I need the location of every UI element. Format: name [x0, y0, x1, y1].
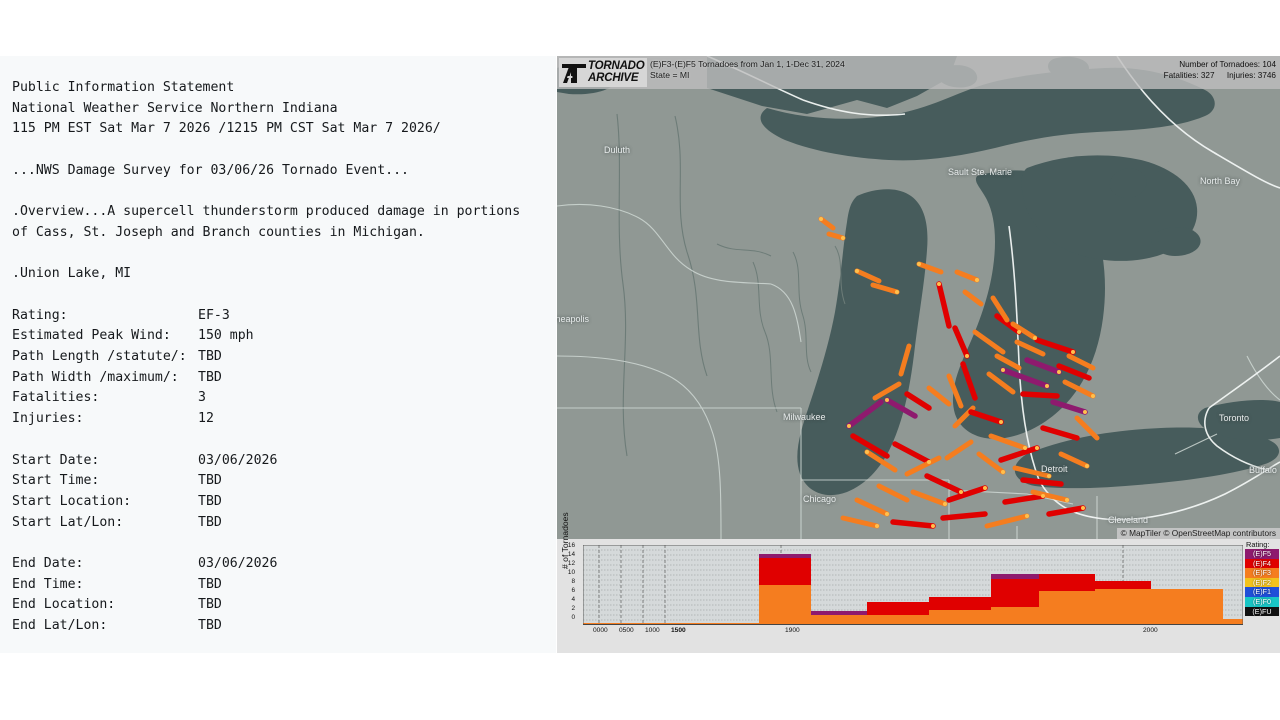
chart-x-tick: 1500 [671, 627, 686, 634]
legend-title: Rating: [1245, 540, 1279, 549]
field-label: Estimated Peak Wind: [12, 326, 198, 347]
field-value: 12 [198, 411, 214, 426]
map-query-title: (E)F3-(E)F5 Tornadoes from Jan 1, 1-Dec … [650, 59, 845, 82]
tornado-map[interactable]: Duluth Minneapolis Sault Ste. Marie Nort… [557, 56, 1280, 539]
bar-f3 [1039, 591, 1095, 625]
chart-y-tick: 6 [557, 588, 575, 594]
bar-f3 [929, 610, 991, 625]
field-label: Start Time: [12, 471, 198, 492]
spacer [0, 430, 556, 451]
tornado-archive-logo[interactable]: TORNADO ARCHIVE [559, 58, 647, 87]
spacer [0, 285, 556, 306]
bar-f4 [1039, 574, 1095, 591]
legend-item-ef0[interactable]: (E)F0 [1245, 597, 1279, 607]
tornado-track-f4 [1023, 394, 1057, 396]
field-row: Start Date:03/06/2026 [0, 451, 556, 472]
public-information-statement-panel: Public Information Statement National We… [0, 56, 556, 653]
field-row: End Location:TBD [0, 595, 556, 616]
field-row: Start Time:TBD [0, 471, 556, 492]
field-value: TBD [198, 473, 222, 488]
field-row: Fatalities:3 [0, 388, 556, 409]
field-row: End Date:03/06/2026 [0, 554, 556, 575]
bar-f4 [929, 597, 991, 610]
chart-x-tick: 1000 [645, 627, 660, 634]
stat-injuries: Injuries: 3746 [1227, 71, 1276, 80]
statement-header-line: Public Information Statement [0, 78, 556, 99]
field-value: TBD [198, 577, 222, 592]
chart-x-tick: 0000 [593, 627, 608, 634]
field-row: Injuries:12 [0, 409, 556, 430]
field-value: 3 [198, 390, 206, 405]
field-row: Start Lat/Lon:TBD [0, 513, 556, 534]
field-label: Start Lat/Lon: [12, 513, 198, 534]
field-value: 03/06/2026 [198, 556, 277, 571]
chart-y-tick: 16 [557, 543, 575, 549]
stat-fatalities: Fatalities: 327 [1164, 71, 1215, 80]
statement-header-line: 115 PM EST Sat Mar 7 2026 /1215 PM CST S… [0, 119, 556, 140]
field-value: TBD [198, 597, 222, 612]
field-value: TBD [198, 370, 222, 385]
legend-item-ef1[interactable]: (E)F1 [1245, 587, 1279, 597]
chart-x-tick: 1900 [785, 627, 800, 634]
statement-header-line: National Weather Service Northern Indian… [0, 99, 556, 120]
bar-f3 [1151, 589, 1223, 625]
legend-item-ef4[interactable]: (E)F4 [1245, 559, 1279, 569]
overview-line: .Overview...A supercell thunderstorm pro… [0, 202, 556, 223]
summary-stats: Number of Tornadoes: 104 Fatalities: 327… [1154, 59, 1276, 82]
field-row: Estimated Peak Wind:150 mph [0, 326, 556, 347]
chart-y-tick: 4 [557, 597, 575, 603]
event-location-title: .Union Lake, MI [0, 264, 556, 285]
field-label: Path Length /statute/: [12, 347, 198, 368]
app-header-bar: TORNADO ARCHIVE (E)F3-(E)F5 Tornadoes fr… [557, 56, 1280, 89]
field-row: Path Width /maximum/:TBD [0, 368, 556, 389]
field-label: Fatalities: [12, 388, 198, 409]
chart-y-tick: 12 [557, 561, 575, 567]
spacer [0, 140, 556, 161]
map-canvas [557, 56, 1280, 539]
field-row: Rating:EF-3 [0, 306, 556, 327]
bar-f5 [759, 554, 811, 558]
logo-line-1: TORNADO [588, 61, 645, 73]
bar-f3 [991, 607, 1039, 625]
field-value: TBD [198, 515, 222, 530]
field-label: End Lat/Lon: [12, 616, 198, 637]
tornado-archive-app: Duluth Minneapolis Sault Ste. Marie Nort… [557, 56, 1280, 653]
field-row: End Lat/Lon:TBD [0, 616, 556, 637]
stat-tornado-count: Number of Tornadoes: 104 [1154, 59, 1276, 70]
overview-line: of Cass, St. Joseph and Branch counties … [0, 223, 556, 244]
field-value: TBD [198, 349, 222, 364]
field-label: Injuries: [12, 409, 198, 430]
chart-y-tick: 14 [557, 552, 575, 558]
field-label: Rating: [12, 306, 198, 327]
bar-f5 [811, 611, 867, 615]
field-value: TBD [198, 618, 222, 633]
field-label: Path Width /maximum/: [12, 368, 198, 389]
map-attribution[interactable]: © MapTiler © OpenStreetMap contributors [1117, 528, 1280, 539]
field-label: End Location: [12, 595, 198, 616]
field-label: Start Location: [12, 492, 198, 513]
field-row: Start Location:TBD [0, 492, 556, 513]
legend-item-ef2[interactable]: (E)F2 [1245, 578, 1279, 588]
spacer [0, 182, 556, 203]
bar-f4 [759, 558, 811, 585]
field-value: 03/06/2026 [198, 453, 277, 468]
field-value: 150 mph [198, 328, 254, 343]
ta-monogram-icon [561, 61, 587, 85]
query-range-label: (E)F3-(E)F5 Tornadoes from Jan 1, 1-Dec … [650, 59, 845, 70]
bar-f4 [1095, 581, 1151, 589]
spacer [0, 244, 556, 265]
field-value: TBD [198, 494, 222, 509]
bar-f5 [991, 574, 1039, 579]
stat-row-casualties: Fatalities: 327 Injuries: 3746 [1154, 70, 1276, 81]
field-label: End Date: [12, 554, 198, 575]
chart-x-tick: 0500 [619, 627, 634, 634]
field-row: End Time:TBD [0, 575, 556, 596]
chart-x-axis [583, 624, 1243, 625]
tornado-time-histogram[interactable]: # of Tornadoes 16 14 12 10 8 6 4 2 0 [557, 539, 1280, 653]
logo-wordmark: TORNADO ARCHIVE [588, 61, 645, 84]
query-state-label: State = MI [650, 70, 845, 81]
legend-item-ef3[interactable]: (E)F3 [1245, 568, 1279, 578]
chart-y-tick: 2 [557, 606, 575, 612]
field-label: End Time: [12, 575, 198, 596]
logo-line-2: ARCHIVE [588, 73, 645, 85]
chart-y-tick: 8 [557, 579, 575, 585]
chart-x-tick: 2000 [1143, 627, 1158, 634]
chart-y-tick: 0 [557, 615, 575, 621]
bar-f3 [759, 585, 811, 625]
chart-y-tick: 10 [557, 570, 575, 576]
spacer [0, 533, 556, 554]
bar-f4 [867, 602, 929, 615]
field-value: EF-3 [198, 308, 230, 323]
bar-f3 [1095, 589, 1151, 625]
screen: Public Information Statement National We… [0, 0, 1280, 720]
legend-item-efu[interactable]: (E)FU [1245, 607, 1279, 617]
damage-survey-title: ...NWS Damage Survey for 03/06/26 Tornad… [0, 161, 556, 182]
field-label: Start Date: [12, 451, 198, 472]
chart-plot-area [583, 545, 1243, 625]
bar-f4 [991, 579, 1039, 607]
rating-legend[interactable]: Rating: (E)F5 (E)F4 (E)F3 (E)F2 (E)F1 (E… [1245, 540, 1279, 616]
legend-item-ef5[interactable]: (E)F5 [1245, 549, 1279, 559]
field-row: Path Length /statute/:TBD [0, 347, 556, 368]
